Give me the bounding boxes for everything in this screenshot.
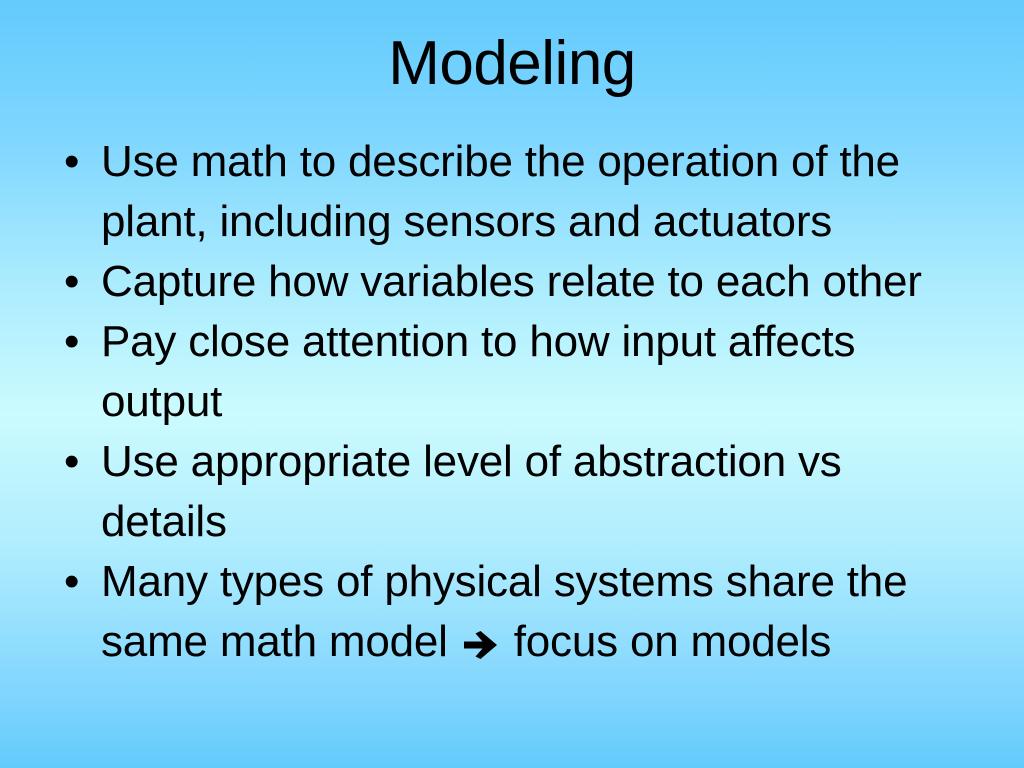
bullet-dot-icon: • — [64, 552, 94, 612]
page-title: Modeling — [0, 28, 1024, 100]
list-item: • Many types of physical systems share t… — [56, 552, 976, 672]
slide-canvas: Modeling • Use math to describe the oper… — [0, 0, 1024, 768]
list-item: • Capture how variables relate to each o… — [56, 252, 976, 312]
bullet-dot-icon: • — [64, 132, 94, 192]
bullet-dot-icon: • — [64, 312, 94, 372]
list-item: • Use appropriate level of abstraction v… — [56, 432, 976, 552]
list-item-label-after-arrow: focus on models — [502, 617, 831, 666]
list-item-label: Use appropriate level of abstraction vs … — [101, 437, 842, 546]
list-item: • Use math to describe the operation of … — [56, 132, 976, 252]
list-item-label: Capture how variables relate to each oth… — [101, 257, 922, 306]
list-item: • Pay close attention to how input affec… — [56, 312, 976, 432]
bullet-dot-icon: • — [64, 252, 94, 312]
list-item-label: Use math to describe the operation of th… — [101, 137, 900, 246]
list-item-label: Pay close attention to how input affects… — [101, 317, 855, 426]
right-arrow-icon — [464, 631, 498, 659]
bullet-list: • Use math to describe the operation of … — [56, 132, 976, 672]
bullet-dot-icon: • — [64, 432, 94, 492]
